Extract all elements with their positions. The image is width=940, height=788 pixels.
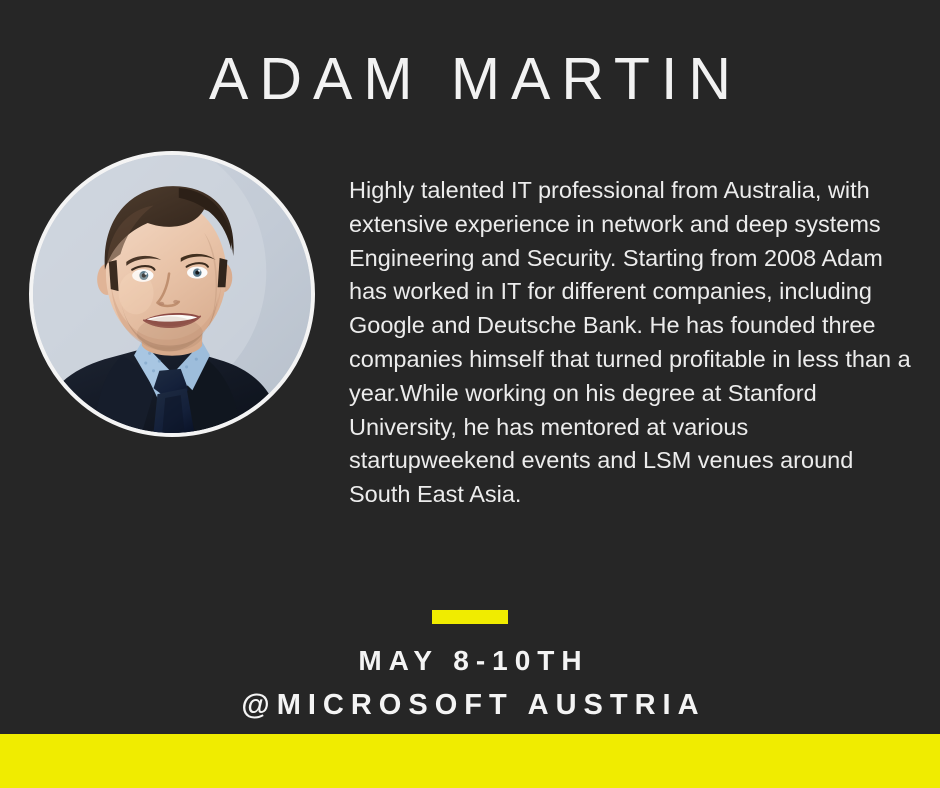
event-date: MAY 8-10TH — [0, 644, 940, 678]
yellow-divider-bar — [432, 610, 508, 624]
event-venue: @MICROSOFT AUSTRIA — [0, 687, 940, 723]
page-title: ADAM MARTIN — [0, 48, 940, 110]
avatar — [29, 151, 315, 437]
speaker-bio: Highly talented IT professional from Aus… — [349, 174, 911, 512]
yellow-footer-band — [0, 734, 940, 788]
portrait-photo-icon — [33, 155, 311, 433]
speaker-announcement-poster: ADAM MARTIN — [0, 0, 940, 788]
